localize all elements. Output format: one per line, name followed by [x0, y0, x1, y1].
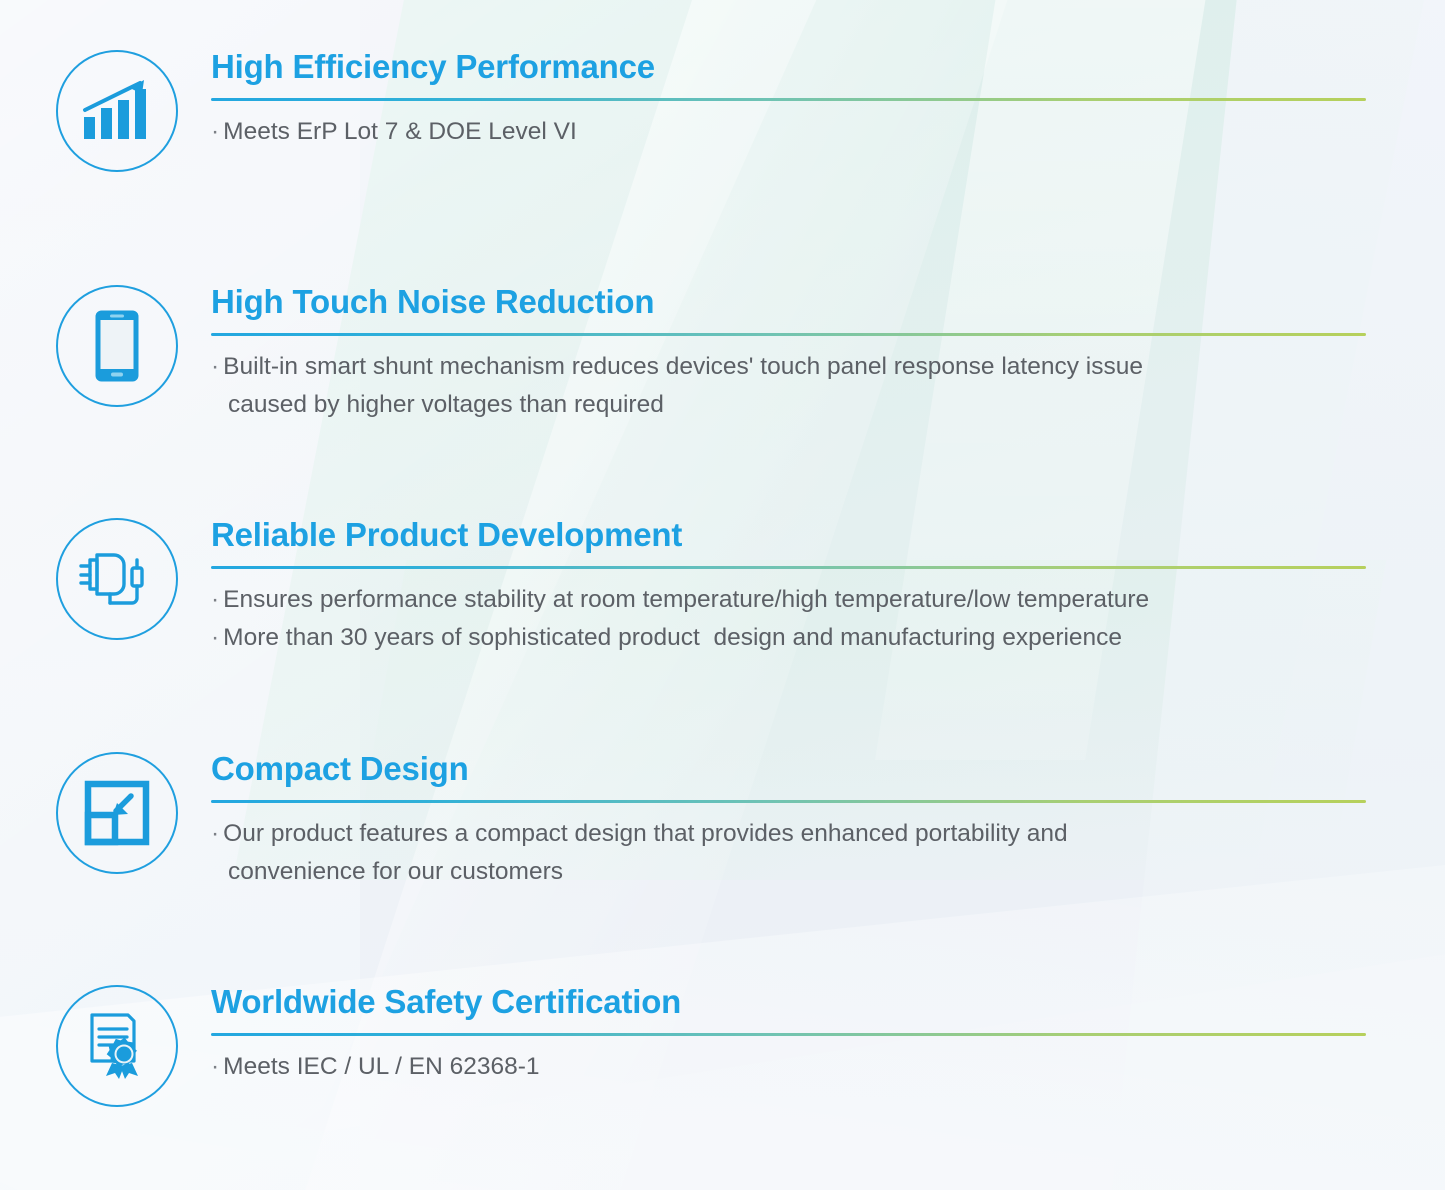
feature-icon-wrap [56, 752, 178, 874]
bar-chart-growth-icon [56, 50, 178, 172]
bullet-text: Ensures performance stability at room te… [223, 586, 1149, 613]
feature-title: Reliable Product Development [211, 518, 1371, 553]
feature-divider [211, 98, 1366, 101]
bullet-text: More than 30 years of sophisticated prod… [223, 624, 1122, 651]
bullet-text: Meets IEC / UL / EN 62368-1 [223, 1053, 539, 1080]
bullet-text-continued: caused by higher voltages than required [211, 386, 1371, 424]
feature-icon-wrap [56, 985, 178, 1107]
bullet-marker: · [211, 1053, 223, 1080]
feature-bullet: ·More than 30 years of sophisticated pro… [211, 619, 1371, 657]
feature-icon-wrap [56, 518, 178, 640]
feature-divider [211, 333, 1366, 336]
bullet-text: Meets ErP Lot 7 & DOE Level VI [223, 118, 577, 145]
feature-bullets: ·Built-in smart shunt mechanism reduces … [211, 348, 1371, 424]
feature-divider [211, 800, 1366, 803]
smartphone-icon [56, 285, 178, 407]
feature-bullet: ·Built-in smart shunt mechanism reduces … [211, 348, 1371, 386]
feature-bullets: ·Meets IEC / UL / EN 62368-1 [211, 1048, 1371, 1086]
feature-icon-wrap [56, 50, 178, 172]
bullet-marker: · [211, 353, 223, 380]
feature-bullet: ·Meets IEC / UL / EN 62368-1 [211, 1048, 1371, 1086]
feature-title: Compact Design [211, 752, 1371, 787]
feature-title: Worldwide Safety Certification [211, 985, 1371, 1020]
feature-icon-wrap [56, 285, 178, 407]
feature-bullet: ·Our product features a compact design t… [211, 815, 1371, 853]
feature-title: High Touch Noise Reduction [211, 285, 1371, 320]
bullet-text: Our product features a compact design th… [223, 820, 1067, 847]
feature-highlights-page: High Efficiency Performance ·Meets ErP L… [0, 0, 1445, 1190]
certificate-seal-icon [56, 985, 178, 1107]
feature-bullets: ·Meets ErP Lot 7 & DOE Level VI [211, 113, 1371, 151]
feature-body: Compact Design ·Our product features a c… [211, 752, 1371, 891]
feature-body: Worldwide Safety Certification ·Meets IE… [211, 985, 1371, 1086]
bullet-marker: · [211, 624, 223, 651]
bullet-text-continued: convenience for our customers [211, 853, 1371, 891]
feature-divider [211, 1033, 1366, 1036]
bullet-text: Built-in smart shunt mechanism reduces d… [223, 353, 1143, 380]
bullet-marker: · [211, 820, 223, 847]
power-adapter-icon [56, 518, 178, 640]
bullet-marker: · [211, 586, 223, 613]
bullet-marker: · [211, 118, 223, 145]
feature-bullet: ·Meets ErP Lot 7 & DOE Level VI [211, 113, 1371, 151]
feature-body: High Touch Noise Reduction ·Built-in sma… [211, 285, 1371, 424]
feature-bullets: ·Ensures performance stability at room t… [211, 581, 1371, 657]
compact-resize-icon [56, 752, 178, 874]
feature-bullet: ·Ensures performance stability at room t… [211, 581, 1371, 619]
feature-bullets: ·Our product features a compact design t… [211, 815, 1371, 891]
feature-body: Reliable Product Development ·Ensures pe… [211, 518, 1371, 657]
feature-body: High Efficiency Performance ·Meets ErP L… [211, 50, 1371, 151]
feature-divider [211, 566, 1366, 569]
feature-title: High Efficiency Performance [211, 50, 1371, 85]
